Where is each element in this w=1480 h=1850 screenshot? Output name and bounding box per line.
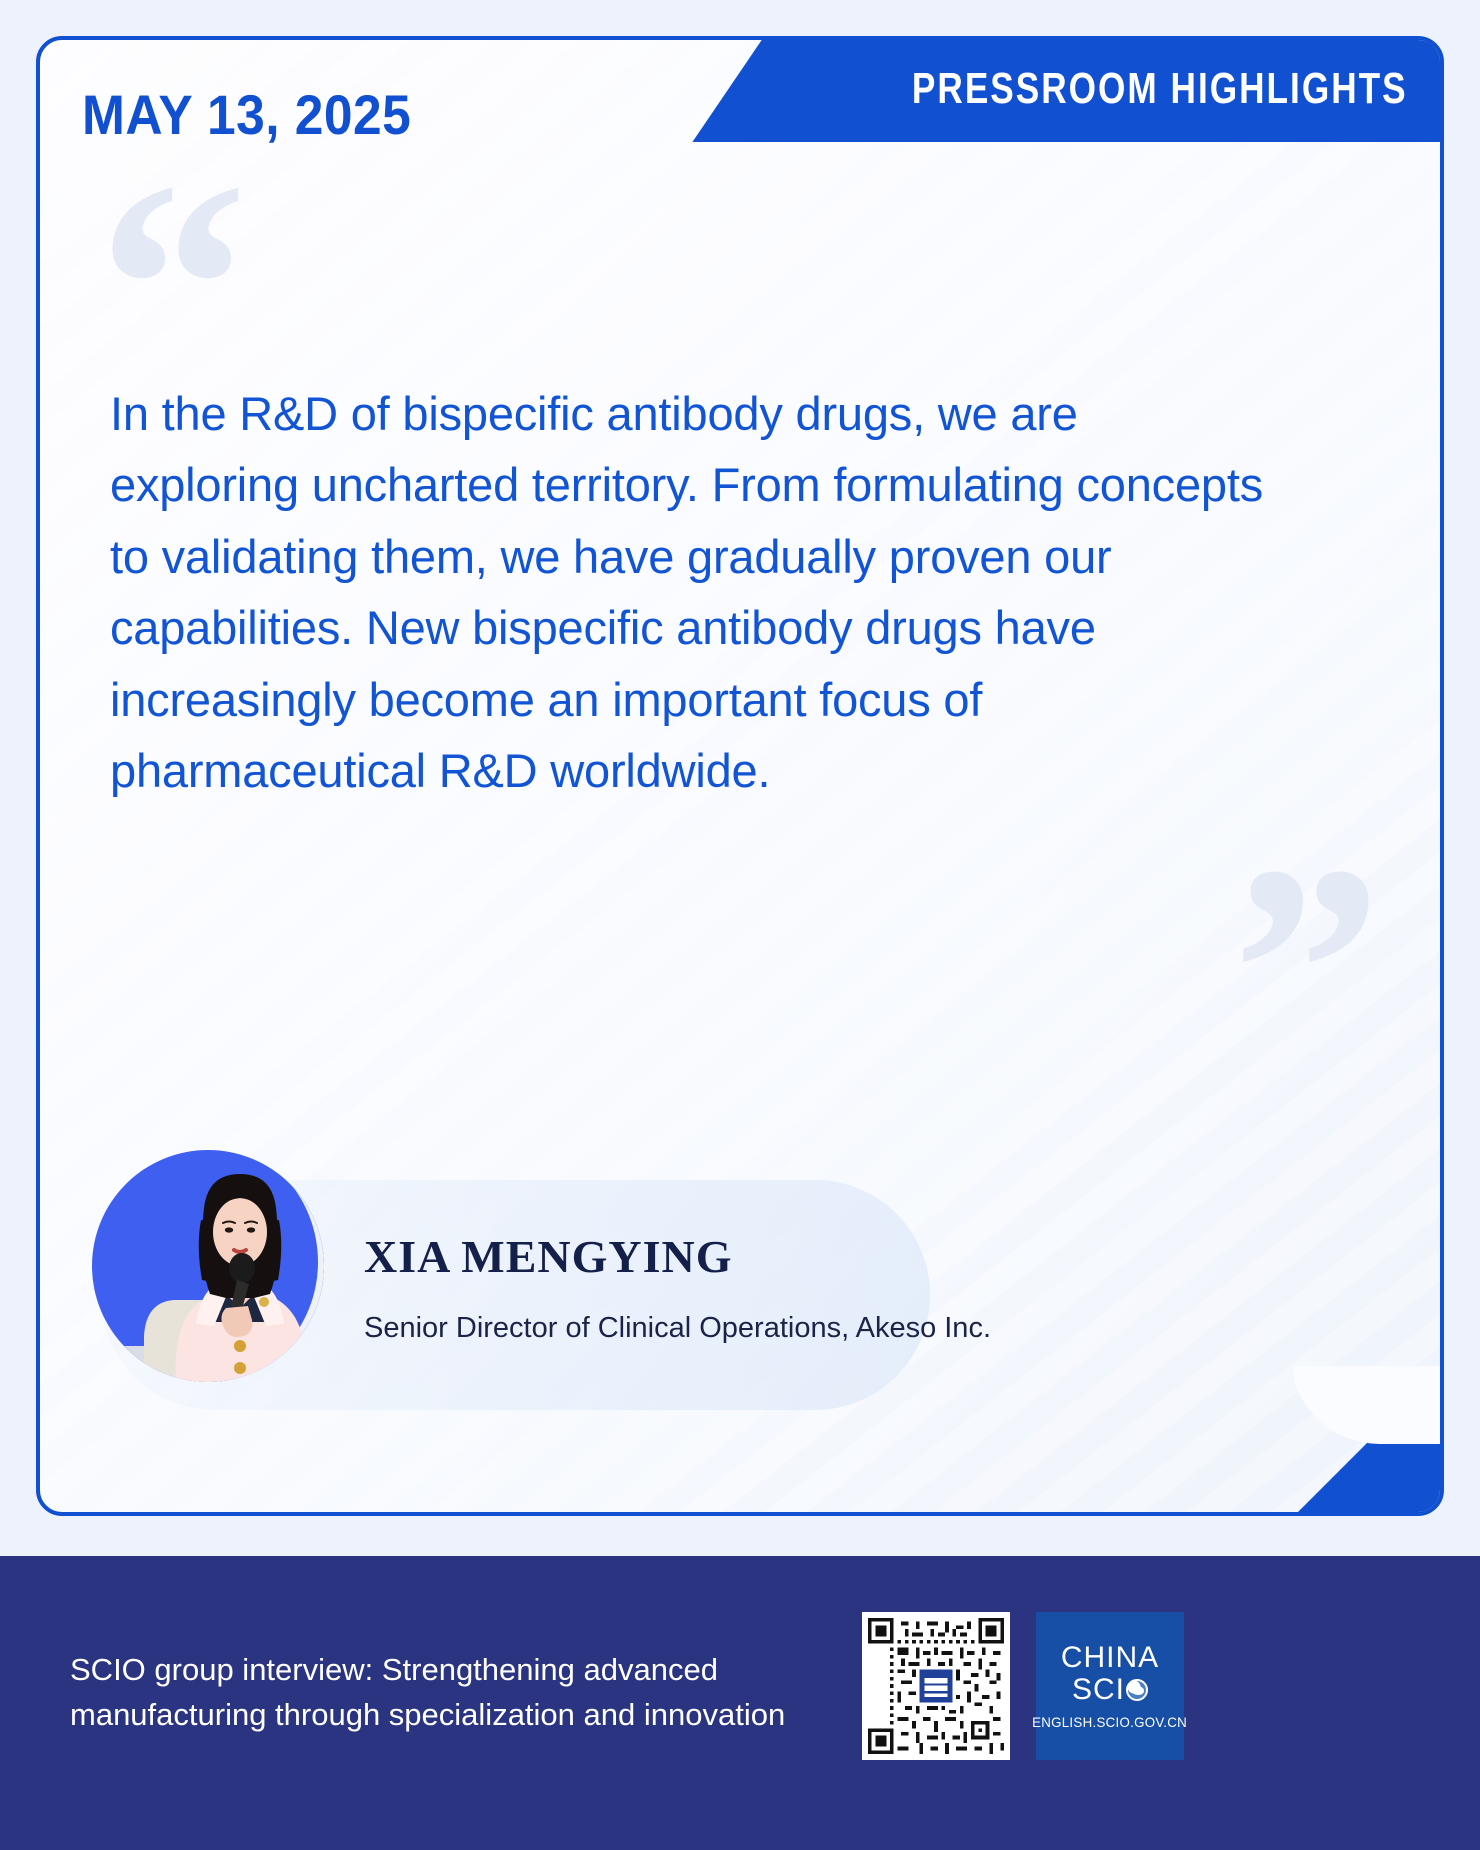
logo-line-china: CHINA [1061, 1643, 1159, 1673]
footer-bar: SCIO group interview: Strengthening adva… [0, 1556, 1480, 1850]
logo-line-scio: SCI [1072, 1675, 1148, 1705]
highlight-card: “ ” MAY 13, 2025 PRESSROOM HIGHLIGHTS In… [36, 36, 1444, 1516]
logo-scio-text: SCI [1072, 1675, 1125, 1705]
globe-icon [1126, 1679, 1148, 1701]
banner-label: PRESSROOM HIGHLIGHTS [912, 64, 1408, 114]
quote-close-icon: ” [1232, 820, 1382, 1120]
qr-code[interactable] [862, 1612, 1010, 1760]
pressroom-highlights-banner: PRESSROOM HIGHLIGHTS [692, 36, 1444, 142]
logo-url: ENGLISH.SCIO.GOV.CN [1033, 1714, 1188, 1730]
publication-date: MAY 13, 2025 [82, 82, 411, 147]
corner-fold [1294, 1366, 1444, 1516]
china-scio-logo[interactable]: CHINA SCI ENGLISH.SCIO.GOV.CN [1036, 1612, 1184, 1760]
quote-text: In the R&D of bispecific antibody drugs,… [110, 378, 1270, 807]
corner-fold-cut [1294, 1366, 1444, 1444]
card-inner: “ ” MAY 13, 2025 PRESSROOM HIGHLIGHTS In… [40, 40, 1440, 1512]
speaker-name: XIA MENGYING [364, 1230, 733, 1283]
footer-caption: SCIO group interview: Strengthening adva… [70, 1648, 830, 1738]
speaker-title: Senior Director of Clinical Operations, … [364, 1308, 1064, 1349]
speaker-avatar [92, 1150, 324, 1382]
